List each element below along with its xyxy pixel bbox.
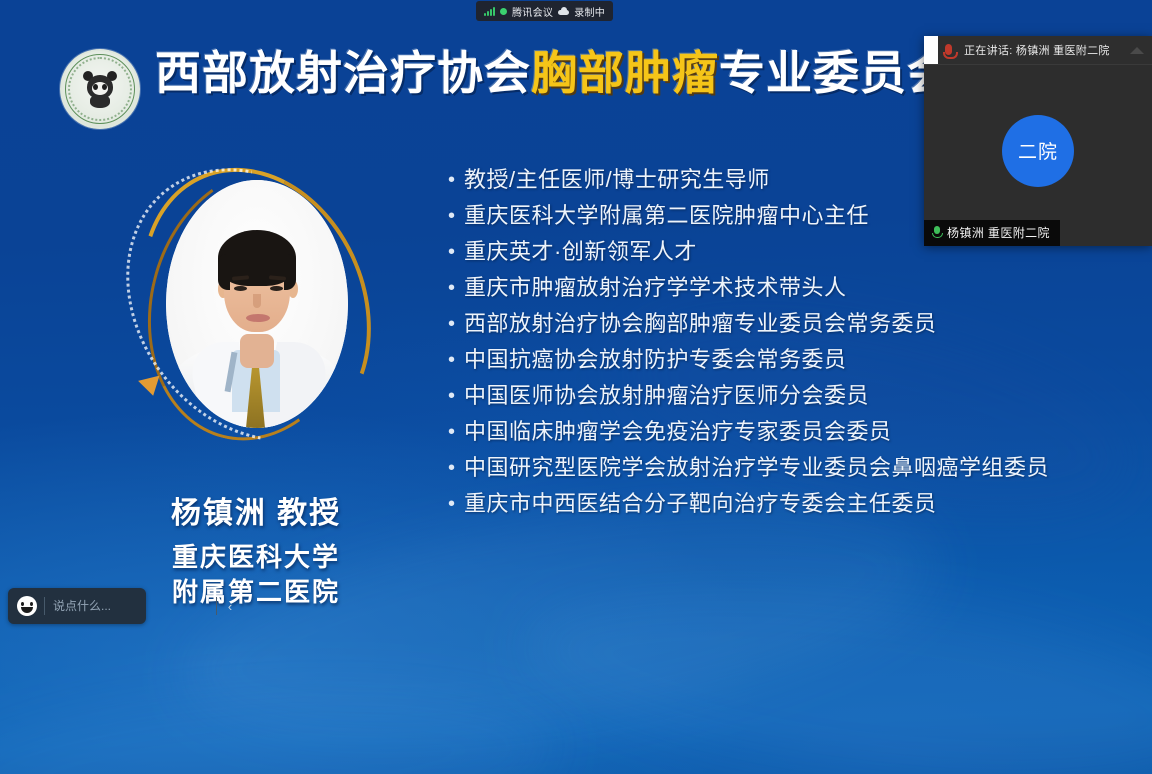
association-logo bbox=[60, 49, 140, 129]
recording-label: 录制中 bbox=[574, 4, 605, 19]
background-wave bbox=[0, 669, 564, 774]
list-item: •西部放射治疗协会胸部肿瘤专业委员会常务委员 bbox=[448, 312, 1049, 336]
bullet-icon: • bbox=[448, 384, 464, 408]
list-item-label: 重庆市中西医结合分子靶向治疗专委会主任委员 bbox=[464, 492, 937, 516]
microphone-icon bbox=[931, 226, 942, 240]
bullet-icon: • bbox=[448, 492, 464, 516]
list-item: •中国临床肿瘤学会免疫治疗专家委员会委员 bbox=[448, 420, 1049, 444]
list-item-label: 中国抗癌协会放射防护专委会常务委员 bbox=[464, 348, 847, 372]
chat-input[interactable] bbox=[45, 599, 216, 613]
video-call-panel[interactable]: 正在讲话: 杨镇洲 重医附二院 二院 杨镇洲 重医附二院 bbox=[924, 36, 1152, 245]
speaker-icon bbox=[942, 42, 958, 58]
arrow-pointer-icon bbox=[138, 376, 164, 399]
meeting-app-label: 腾讯会议 bbox=[512, 4, 553, 19]
status-dot-icon bbox=[500, 8, 507, 15]
bullet-icon: • bbox=[448, 348, 464, 372]
list-item-label: 西部放射治疗协会胸部肿瘤专业委员会常务委员 bbox=[464, 312, 937, 336]
list-item: •中国研究型医院学会放射治疗学专业委员会鼻咽癌学组委员 bbox=[448, 456, 1049, 480]
chevron-left-icon[interactable]: ‹ bbox=[217, 599, 243, 614]
speaker-org-line1: 重庆医科大学 bbox=[96, 540, 416, 575]
list-item-label: 中国医师协会放射肿瘤治疗医师分会委员 bbox=[464, 384, 869, 408]
list-item-label: 重庆市肿瘤放射治疗学学术技术带头人 bbox=[464, 276, 847, 300]
avatar bbox=[166, 180, 348, 428]
presentation-screen: 腾讯会议 录制中 西部放射治疗协会胸部肿瘤专业委员会2022年 bbox=[0, 0, 1152, 774]
participant-name-label: 杨镇洲 重医附二院 bbox=[947, 224, 1050, 241]
panda-icon bbox=[80, 69, 120, 109]
list-item: •重庆市中西医结合分子靶向治疗专委会主任委员 bbox=[448, 492, 1049, 516]
chevron-up-icon[interactable] bbox=[1122, 36, 1152, 64]
drag-handle[interactable] bbox=[924, 36, 938, 64]
speaker-name: 杨镇洲 教授 bbox=[96, 488, 416, 532]
list-item: •重庆市肿瘤放射治疗学学术技术带头人 bbox=[448, 276, 1049, 300]
title-part-1: 西部放射治疗协会 bbox=[155, 50, 531, 96]
list-item-label: 中国临床肿瘤学会免疫治疗专家委员会委员 bbox=[464, 420, 892, 444]
bullet-icon: • bbox=[448, 240, 464, 264]
now-speaking-label: 正在讲话: 杨镇洲 重医附二院 bbox=[958, 42, 1122, 58]
chat-input-bar[interactable]: ‹ bbox=[8, 588, 146, 624]
bullet-icon: • bbox=[448, 276, 464, 300]
participant-avatar: 二院 bbox=[1002, 115, 1074, 187]
title-part-2-highlight: 胸部肿瘤 bbox=[531, 50, 719, 96]
list-item-label: 重庆医科大学附属第二医院肿瘤中心主任 bbox=[464, 204, 869, 228]
list-item-label: 教授/主任医师/博士研究生导师 bbox=[464, 168, 770, 192]
bullet-icon: • bbox=[448, 204, 464, 228]
list-item-label: 重庆英才·创新领军人才 bbox=[464, 240, 697, 264]
meeting-status-pill[interactable]: 腾讯会议 录制中 bbox=[476, 1, 613, 21]
bullet-icon: • bbox=[448, 456, 464, 480]
video-panel-titlebar[interactable]: 正在讲话: 杨镇洲 重医附二院 bbox=[924, 36, 1152, 65]
signal-bars-icon bbox=[484, 7, 495, 16]
bullet-icon: • bbox=[448, 420, 464, 444]
list-item: •中国医师协会放射肿瘤治疗医师分会委员 bbox=[448, 384, 1049, 408]
bullet-icon: • bbox=[448, 312, 464, 336]
background-wave bbox=[512, 558, 1152, 774]
video-stage[interactable]: 二院 杨镇洲 重医附二院 bbox=[924, 65, 1152, 246]
list-item-label: 中国研究型医院学会放射治疗学专业委员会鼻咽癌学组委员 bbox=[464, 456, 1049, 480]
smiley-face-icon[interactable] bbox=[17, 596, 37, 616]
speaker-portrait-block bbox=[128, 158, 388, 458]
cloud-icon bbox=[558, 7, 569, 15]
list-item: •中国抗癌协会放射防护专委会常务委员 bbox=[448, 348, 1049, 372]
participant-nameplate: 杨镇洲 重医附二院 bbox=[924, 220, 1060, 246]
bullet-icon: • bbox=[448, 168, 464, 192]
